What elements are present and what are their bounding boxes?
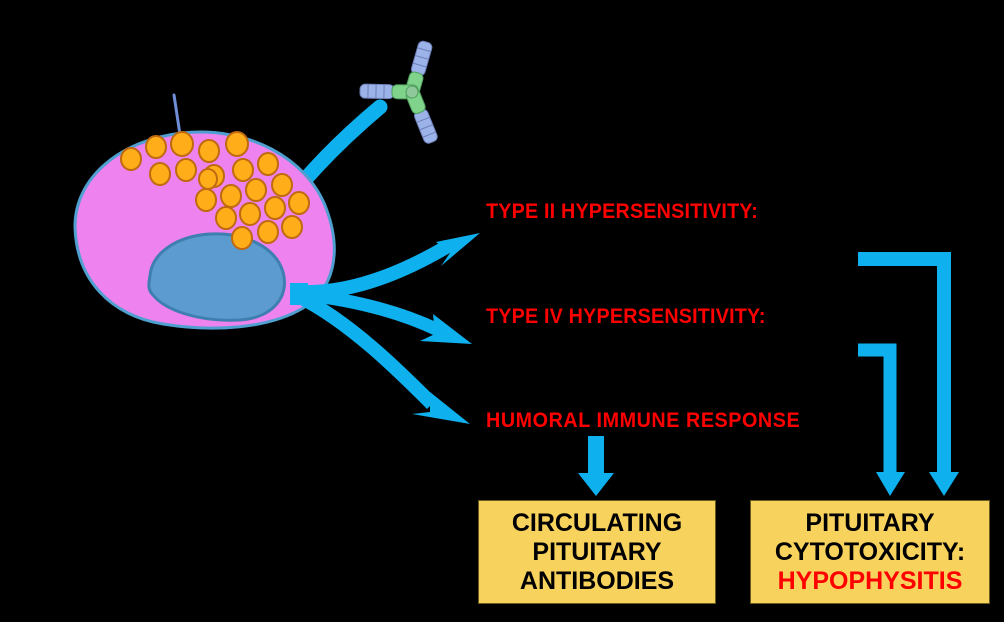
arrow-type-ii-to-cytotoxicity xyxy=(858,259,959,496)
label-type-ii-hypersensitivity: TYPE II HYPERSENSITIVITY: xyxy=(486,200,758,224)
box-antibodies-line-3: ANTIBODIES xyxy=(520,567,674,596)
antibody-icon xyxy=(350,37,457,157)
outcome-box-circulating-antibodies: CIRCULATING PITUITARY ANTIBODIES xyxy=(478,500,716,604)
label-type-iv-hypersensitivity: TYPE IV HYPERSENSITIVITY: xyxy=(486,305,766,329)
cell-nucleus xyxy=(149,234,285,320)
diagram-canvas: TYPE II HYPERSENSITIVITY: TYPE IV HYPERS… xyxy=(0,0,1004,622)
arrow-humoral-to-antibodies xyxy=(578,436,614,496)
box-cytotoxicity-line-2: CYTOTOXICITY: xyxy=(775,538,965,567)
box-antibodies-line-2: PITUITARY xyxy=(532,538,661,567)
label-humoral-immune-response: HUMORAL IMMUNE RESPONSE xyxy=(486,409,800,433)
box-cytotoxicity-highlight: HYPOPHYSITIS xyxy=(778,567,963,596)
box-antibodies-line-1: CIRCULATING xyxy=(512,509,682,538)
outcome-box-pituitary-cytotoxicity: PITUITARY CYTOTOXICITY: HYPOPHYSITIS xyxy=(750,500,990,604)
arrow-type-iv-to-cytotoxicity xyxy=(858,350,905,496)
arrow-fan-origin xyxy=(290,283,308,305)
box-cytotoxicity-line-1: PITUITARY xyxy=(805,509,934,538)
cell-to-antibody-connector xyxy=(302,107,380,183)
